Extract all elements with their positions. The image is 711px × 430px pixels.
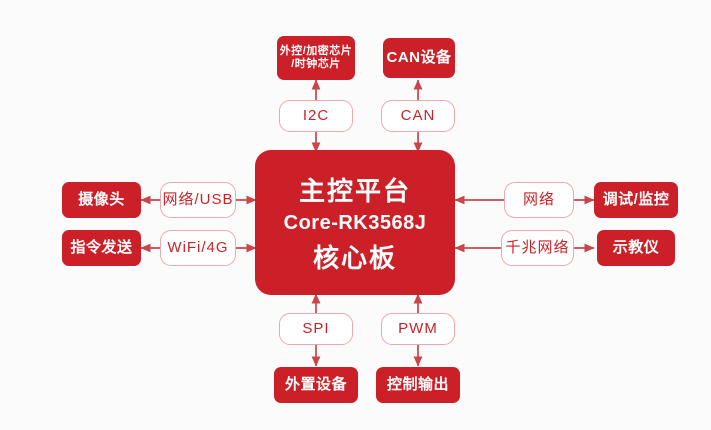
i2c-device-label-line1: 外控/加密芯片: [280, 45, 353, 58]
bus-can-label: CAN: [401, 107, 436, 125]
bus-network-label: 网络: [523, 191, 555, 209]
bus-i2c[interactable]: I2C: [279, 100, 353, 132]
core-title-line3: 核心板: [313, 238, 397, 275]
bus-pwm[interactable]: PWM: [381, 313, 455, 345]
i2c-device-label-line2: /时钟芯片: [291, 58, 341, 71]
can-device-label: CAN设备: [387, 49, 452, 67]
bus-net-usb-label: 网络/USB: [162, 191, 233, 209]
bus-spi[interactable]: SPI: [279, 313, 353, 345]
bus-wifi-4g[interactable]: WiFi/4G: [160, 230, 236, 266]
bus-gigabit-network-label: 千兆网络: [505, 239, 569, 257]
peripheral-teach-pendant[interactable]: 示教仪: [597, 230, 675, 266]
peripheral-control-output[interactable]: 控制输出: [376, 367, 460, 403]
control-output-label: 控制输出: [387, 376, 449, 394]
bus-network[interactable]: 网络: [504, 182, 574, 218]
external-device-label: 外置设备: [285, 376, 347, 394]
command-send-label: 指令发送: [70, 239, 132, 257]
core-title-line2: Core-RK3568J: [284, 212, 427, 235]
peripheral-i2c-device[interactable]: 外控/加密芯片 /时钟芯片: [277, 36, 355, 80]
bus-wifi-4g-label: WiFi/4G: [167, 239, 228, 257]
bus-spi-label: SPI: [302, 320, 329, 338]
bus-can[interactable]: CAN: [381, 100, 455, 132]
peripheral-external-device[interactable]: 外置设备: [274, 367, 358, 403]
block-diagram: 主控平台 Core-RK3568J 核心板 外控/加密芯片 /时钟芯片 CAN设…: [0, 0, 711, 430]
peripheral-command-send[interactable]: 指令发送: [62, 230, 141, 266]
bus-gigabit-network[interactable]: 千兆网络: [501, 230, 574, 266]
peripheral-camera[interactable]: 摄像头: [62, 182, 141, 218]
core-platform-block[interactable]: 主控平台 Core-RK3568J 核心板: [255, 150, 455, 295]
peripheral-can-device[interactable]: CAN设备: [383, 38, 455, 78]
peripheral-debug-monitor[interactable]: 调试/监控: [594, 182, 678, 218]
teach-pendant-label: 示教仪: [613, 239, 660, 257]
bus-net-usb[interactable]: 网络/USB: [160, 182, 236, 218]
debug-monitor-label: 调试/监控: [603, 191, 670, 209]
bus-pwm-label: PWM: [398, 320, 438, 338]
camera-label: 摄像头: [78, 191, 125, 209]
core-title-line1: 主控平台: [299, 171, 411, 208]
bus-i2c-label: I2C: [303, 107, 329, 125]
